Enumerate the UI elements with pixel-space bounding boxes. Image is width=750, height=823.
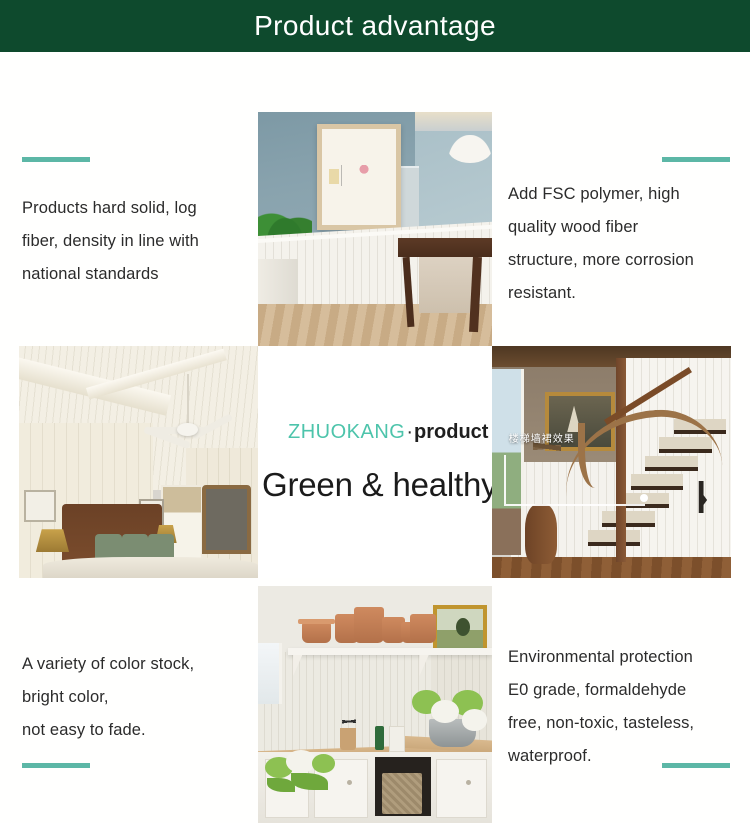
photo-potting-room-content [258, 586, 492, 823]
brand-tagline: Green & healthy [262, 466, 492, 504]
photo-staircase: 楼梯墙裙效果 [492, 346, 731, 578]
photo-dining-room [258, 112, 492, 346]
accent-line-bottom-right [662, 763, 730, 768]
feature-line: Products hard solid, log [22, 192, 247, 225]
callout-label: 楼梯墙裙效果 [509, 430, 575, 445]
green-bottle [375, 726, 384, 750]
feature-line: fiber, density in line with [22, 225, 247, 258]
feature-line: A variety of color stock, [22, 648, 257, 681]
callout-leader-line [504, 455, 645, 506]
accent-line-bottom-left [22, 763, 90, 768]
terracotta-pot [302, 622, 330, 643]
tool-cup [340, 728, 356, 749]
accent-line-top-right [662, 157, 730, 162]
brand-lockup: ZHUOKANG·product [288, 421, 492, 444]
brand-suffix: product [414, 421, 488, 443]
feature-line: E0 grade, formaldehyde [508, 674, 743, 707]
white-jar [389, 726, 405, 752]
feature-line: Add FSC polymer, high [508, 178, 740, 211]
feature-line: quality wood fiber [508, 211, 740, 244]
floor-vase [525, 504, 556, 564]
product-advantage-page: Product advantage Products hard solid, l… [0, 0, 750, 823]
feature-line: bright color, [22, 681, 257, 714]
photo-bedroom [19, 346, 258, 578]
feature-line: national standards [22, 258, 247, 291]
feature-text-environmental: Environmental protection E0 grade, forma… [508, 641, 743, 773]
stair-step [588, 530, 641, 546]
brand-panel: ZHUOKANG·product Green & healthy [258, 346, 492, 578]
dining-chair [419, 252, 475, 313]
terracotta-pot [410, 614, 436, 642]
handwriting [338, 165, 380, 186]
feature-text-fsc-polymer: Add FSC polymer, high quality wood fiber… [508, 178, 740, 310]
feature-line: waterproof. [508, 740, 743, 773]
photo-dining-room-content [258, 112, 492, 346]
feature-line: structure, more corrosion [508, 244, 740, 277]
photo-bedroom-content [19, 346, 258, 578]
white-hydrangea [462, 709, 488, 730]
accent-line-top-left [22, 157, 90, 162]
tree-motif [456, 618, 470, 636]
wall-mirror [202, 485, 251, 553]
framed-landscape-art [433, 605, 488, 653]
feature-line: Environmental protection [508, 641, 743, 674]
dining-table [398, 238, 492, 257]
stair-step [602, 511, 655, 527]
framed-art-small [24, 490, 57, 522]
feature-line: free, non-toxic, tasteless, [508, 707, 743, 740]
brand-name: ZHUOKANG [288, 421, 405, 443]
photo-potting-room [258, 586, 492, 823]
framed-art [317, 124, 402, 230]
wicker-basket [382, 773, 422, 813]
window [258, 643, 282, 705]
bed-duvet [43, 557, 258, 578]
cabinet-door [436, 759, 487, 818]
fan-downrod [187, 374, 189, 425]
feature-text-hard-solid: Products hard solid, log fiber, density … [22, 192, 247, 291]
cabinet-knob [347, 780, 352, 785]
page-title: Product advantage [254, 12, 496, 40]
brand-separator: · [405, 421, 414, 443]
ceiling-strip [415, 112, 492, 131]
terracotta-pot [354, 607, 384, 643]
feature-text-color-stock: A variety of color stock, bright color, … [22, 648, 257, 747]
feature-line: resistant. [508, 277, 740, 310]
photo-staircase-content: 楼梯墙裙效果 [492, 346, 731, 578]
header-banner: Product advantage [0, 0, 750, 52]
pot-rim [298, 619, 335, 624]
wall-shelf [288, 648, 492, 656]
feature-line: not easy to fade. [22, 714, 257, 747]
